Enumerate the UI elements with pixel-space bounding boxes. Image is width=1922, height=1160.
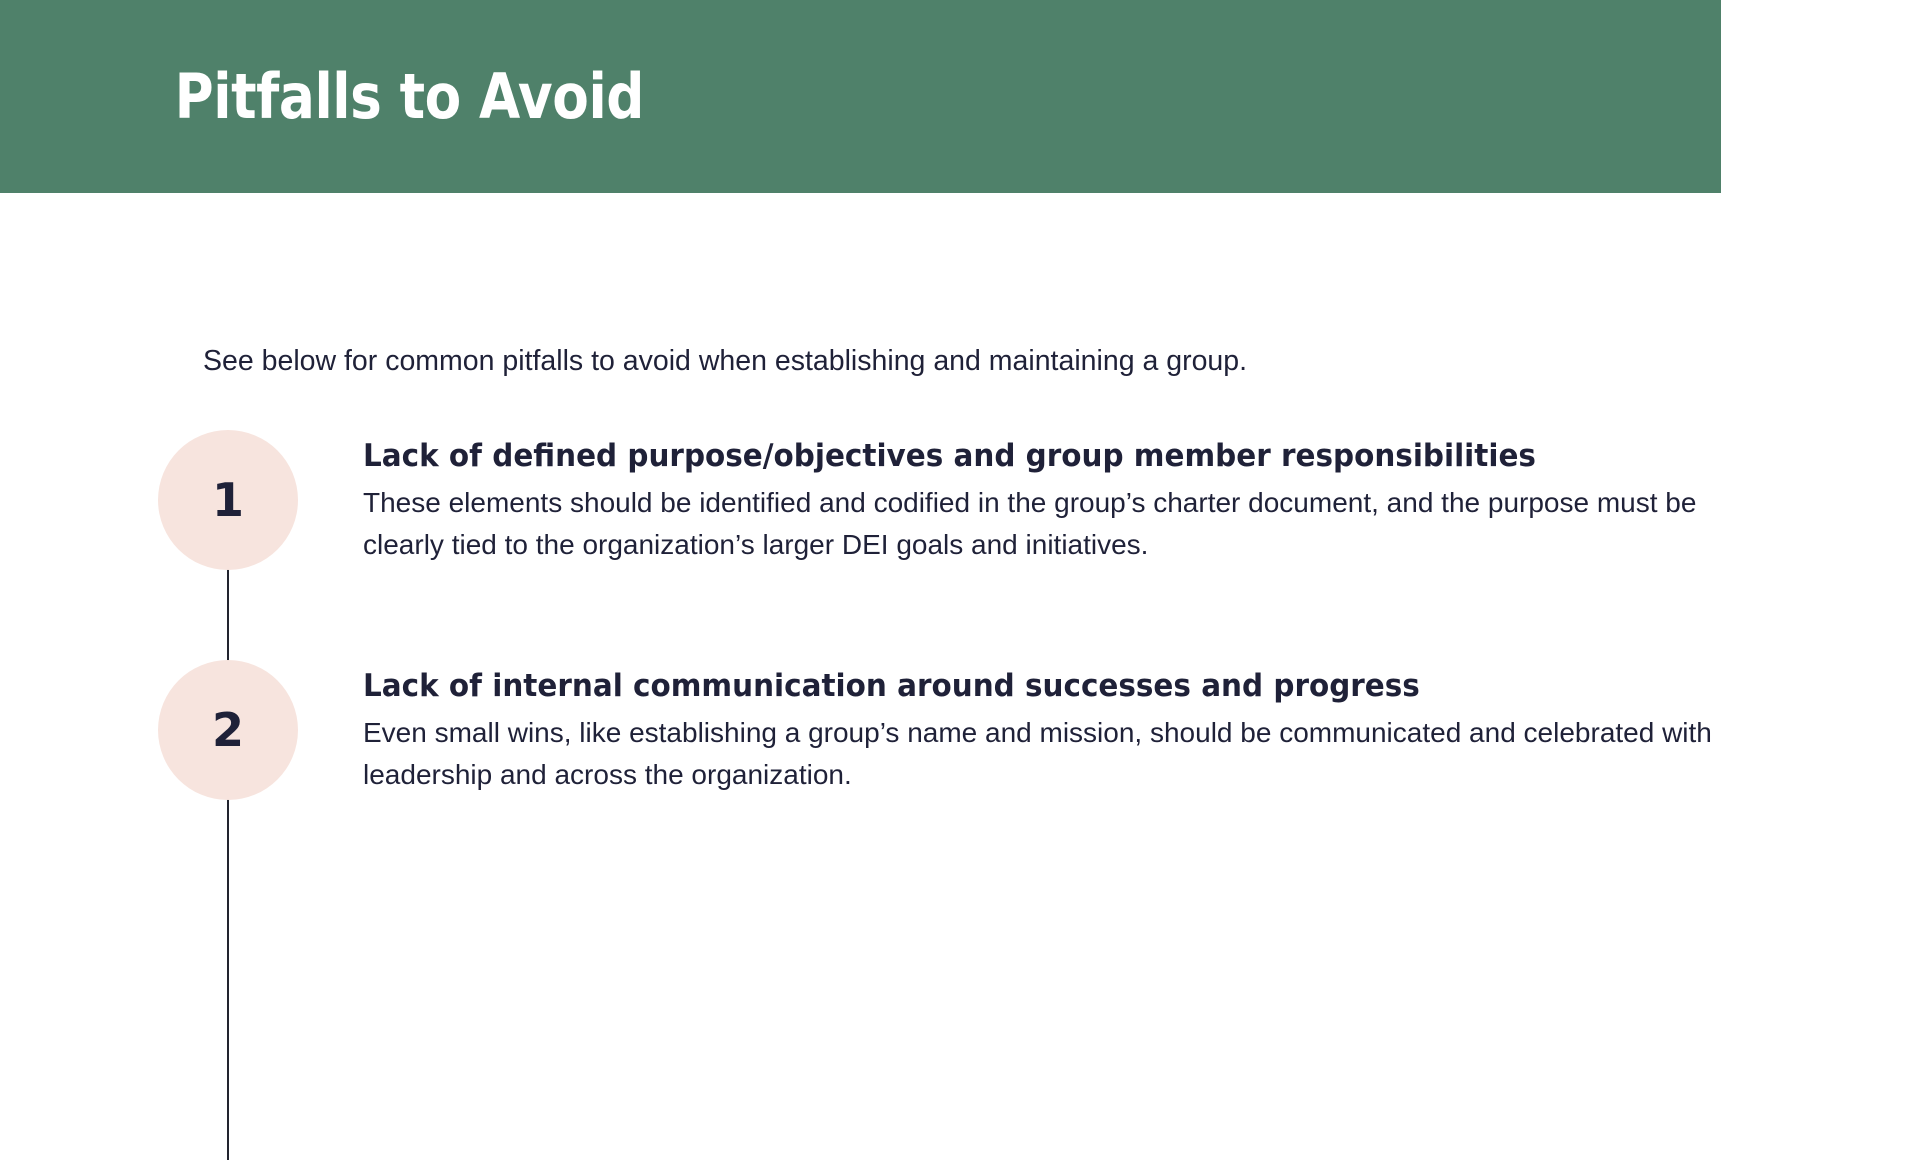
timeline-number-badge: 1 xyxy=(158,430,298,570)
timeline-marker-column: 1 xyxy=(0,430,298,570)
page-title: Pitfalls to Avoid xyxy=(0,64,644,129)
timeline-item-content: Lack of defined purpose/objectives and g… xyxy=(298,430,1763,566)
list-item: 2 Lack of internal communication around … xyxy=(0,660,1922,800)
timeline-item-heading: Lack of defined purpose/objectives and g… xyxy=(363,434,1589,478)
list-item: 1 Lack of defined purpose/objectives and… xyxy=(0,430,1922,570)
timeline-item-heading: Lack of internal communication around su… xyxy=(363,664,1589,708)
timeline-item-content: Lack of internal communication around su… xyxy=(298,660,1763,796)
timeline-item-description: Even small wins, like establishing a gro… xyxy=(363,712,1763,796)
intro-paragraph: See below for common pitfalls to avoid w… xyxy=(203,341,1763,382)
timeline-number-badge: 2 xyxy=(158,660,298,800)
timeline-marker-column: 2 xyxy=(0,660,298,800)
timeline-connector-line xyxy=(227,500,229,1160)
timeline-item-description: These elements should be identified and … xyxy=(363,482,1763,566)
pitfalls-timeline: 1 Lack of defined purpose/objectives and… xyxy=(0,430,1922,1090)
header-banner: Pitfalls to Avoid xyxy=(0,0,1721,193)
